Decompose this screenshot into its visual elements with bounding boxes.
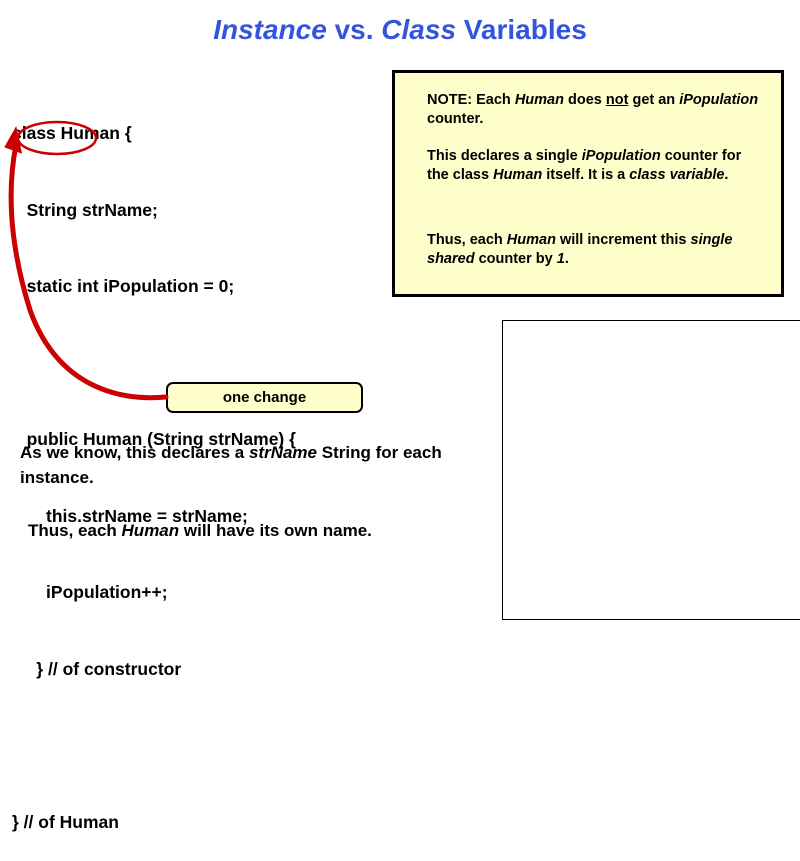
note-p1-underline-not: not xyxy=(606,92,629,108)
code-line: String strName; xyxy=(12,198,392,224)
note-p1-text-4: counter. xyxy=(427,111,483,127)
code-line: } // of Human xyxy=(12,810,392,836)
note-p1-text-2: does xyxy=(564,92,606,108)
bottom-p2-em-human: Human xyxy=(122,521,180,540)
note-p3-em-one: 1 xyxy=(557,251,565,267)
note-p2-em-ipopulation: iPopulation xyxy=(582,148,661,164)
note-p2-text-3: itself. It is a xyxy=(542,167,629,183)
title-word-variables: Variables xyxy=(456,14,587,45)
code-line: class Human { xyxy=(12,121,392,147)
one-change-label: one change xyxy=(223,389,306,406)
note-p2-text-1: This declares a single xyxy=(427,148,582,164)
code-line: static int iPopulation = 0; xyxy=(12,274,392,300)
code-line-blank xyxy=(12,351,392,377)
code-line: iPopulation++; xyxy=(12,580,392,606)
note-p2-text-4: . xyxy=(724,167,728,183)
bottom-p2-text-1: Thus, each xyxy=(28,521,122,540)
note-p3-text-3: counter by xyxy=(475,251,557,267)
note-paragraph-3: Thus, each Human will increment this sin… xyxy=(427,231,767,269)
page-title: Instance vs. Class Variables xyxy=(0,14,800,46)
note-p3-text-1: Thus, each xyxy=(427,232,507,248)
title-word-instance: Instance xyxy=(213,14,327,45)
bottom-paragraph-1: As we know, this declares a strName Stri… xyxy=(20,440,500,490)
note-p1-text-3: get an xyxy=(628,92,679,108)
code-line-blank xyxy=(12,733,392,759)
note-p1-text-1: NOTE: Each xyxy=(427,92,515,108)
title-word-vs: vs. xyxy=(327,14,381,45)
note-p3-em-human: Human xyxy=(507,232,556,248)
bottom-p1-text-1: As we know, this declares a xyxy=(20,443,249,462)
empty-placeholder-box xyxy=(502,320,800,620)
note-p2-em-class-variable: class variable xyxy=(629,167,724,183)
bottom-p1-em-strname: strName xyxy=(249,443,317,462)
one-change-callout: one change xyxy=(166,382,363,413)
note-p3-text-4: . xyxy=(565,251,569,267)
note-p2-em-human: Human xyxy=(493,167,542,183)
title-word-class: Class xyxy=(381,14,456,45)
code-line: } // of constructor xyxy=(12,657,392,683)
note-p1-em-human: Human xyxy=(515,92,564,108)
bottom-p2-text-2: will have its own name. xyxy=(179,521,372,540)
note-paragraph-2: This declares a single iPopulation count… xyxy=(427,147,767,185)
note-paragraph-1: NOTE: Each Human does not get an iPopula… xyxy=(427,91,767,129)
bottom-paragraph-2: Thus, each Human will have its own name. xyxy=(28,518,498,543)
note-panel: NOTE: Each Human does not get an iPopula… xyxy=(392,70,784,297)
note-p1-em-ipopulation: iPopulation xyxy=(679,92,758,108)
note-p3-text-2: will increment this xyxy=(556,232,691,248)
